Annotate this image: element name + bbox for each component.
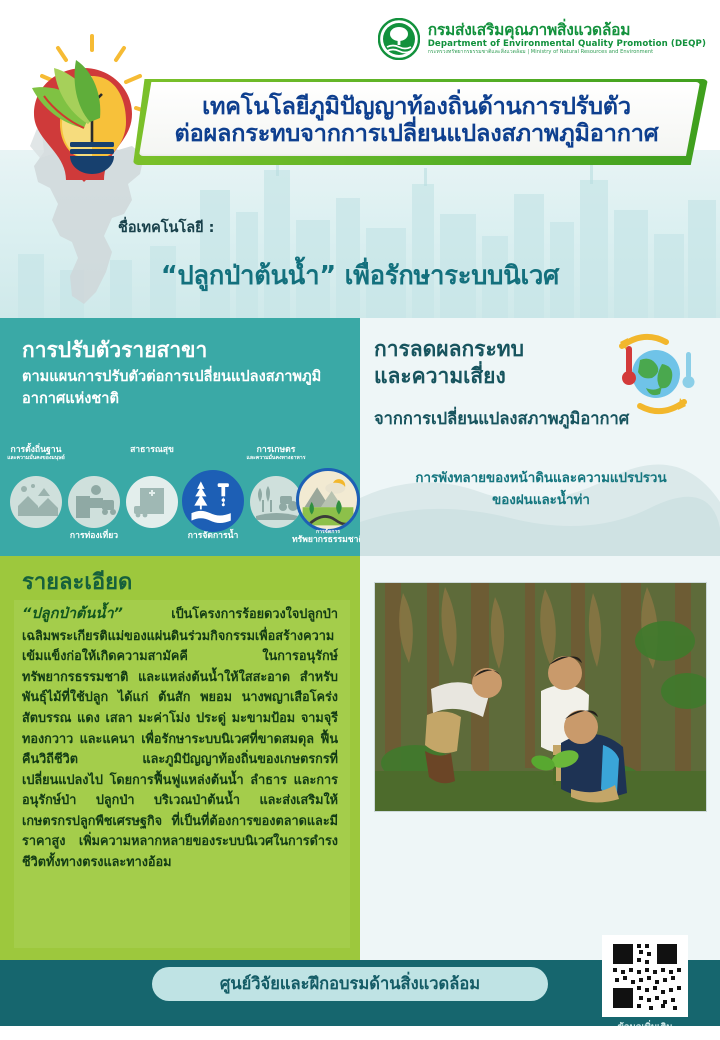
sector-icon-row: การตั้งถิ่นฐาน และความมั่นคงของมนุษย์ (4, 446, 356, 552)
adaptation-panel: การปรับตัวรายสาขา ตามแผนการปรับตัวต่อการ… (0, 318, 360, 556)
natural-resources-landscape-icon (296, 468, 360, 532)
mitigation-body-line1: การพังทลายของหน้าดินและความแปรปรวน (376, 468, 706, 490)
sector-item-tourism[interactable]: การท่องเที่ยว (68, 476, 120, 528)
mitigation-heading-line2: และความเสี่ยง (374, 363, 624, 390)
mid-band: การปรับตัวรายสาขา ตามแผนการปรับตัวต่อการ… (0, 318, 720, 556)
details-body-text: เป็นโครงการร้อยดวงใจปลูกป่าเฉลิมพระเกียร… (22, 606, 338, 869)
details-panel: รายละเอียด “ปลูกป่าต้นน้ำ” เป็นโครงการร้… (0, 556, 360, 960)
logo-title-th: กรมส่งเสริมคุณภาพสิ่งแวดล้อม (428, 22, 706, 38)
sector-label-agriculture: การเกษตร และความมั่นคงทางอาหาร (216, 446, 336, 462)
mitigation-body: การพังทลายของหน้าดินและความแปรปรวน ของฝน… (376, 468, 706, 512)
adaptation-heading: การปรับตัวรายสาขา (22, 334, 207, 367)
logo-title-en: Department of Environmental Quality Prom… (428, 40, 706, 49)
logo-ministry-line: กระทรวงทรัพยากรธรรมชาติและสิ่งแวดล้อม | … (428, 50, 706, 55)
sector-item-health[interactable]: สาธารณสุข (126, 476, 178, 528)
poster-title-line1: เทคโนโลยีภูมิปัญญาท้องถิ่นด้านการปรับตัว (202, 93, 631, 120)
sector-label-water: การจัดการน้ำ (153, 532, 273, 542)
poster-root: กรมส่งเสริมคุณภาพสิ่งแวดล้อม Department … (0, 0, 720, 1040)
qr-code-icon[interactable] (602, 935, 688, 1017)
mitigation-body-line2: ของฝนและน้ำท่า (376, 490, 706, 512)
details-body: “ปลูกป่าต้นน้ำ” เป็นโครงการร้อยดวงใจปลูก… (22, 602, 338, 873)
sector-label-tourism: การท่องเที่ยว (34, 532, 154, 542)
sector-item-settlement[interactable]: การตั้งถิ่นฐาน และความมั่นคงของมนุษย์ (10, 476, 62, 528)
adaptation-subheading: ตามแผนการปรับตัวต่อการเปลี่ยนแปลงสภาพภูม… (22, 366, 352, 410)
deqp-tree-seal-icon (378, 18, 420, 60)
details-lead: “ปลูกป่าต้นน้ำ” (22, 605, 123, 622)
organization-pill[interactable]: ศูนย์วิจัยและฝึกอบรมด้านสิ่งแวดล้อม (152, 967, 548, 1001)
sector-item-natural-resources[interactable]: การจัดการ ทรัพยากรธรรมชาติ (296, 468, 360, 532)
mitigation-heading-line1: การลดผลกระทบ (374, 336, 624, 363)
photo-panel: สถานที่ : ป่าต้นน้ำแม่นาไทร ตำบลบ้านปง อ… (360, 556, 720, 960)
lower-section: รายละเอียด “ปลูกป่าต้นน้ำ” เป็นโครงการร้… (0, 556, 720, 960)
sector-label-health: สาธารณสุข (92, 446, 212, 456)
details-heading: รายละเอียด (22, 564, 132, 599)
organization-label: ศูนย์วิจัยและฝึกอบรมด้านสิ่งแวดล้อม (220, 971, 480, 997)
sector-item-water[interactable]: การจัดการน้ำ (182, 470, 244, 532)
deqp-logo: กรมส่งเสริมคุณภาพสิ่งแวดล้อม Department … (378, 18, 706, 60)
mitigation-panel: การลดผลกระทบ และความเสี่ยง จากการเปลี่ยน… (360, 318, 720, 556)
poster-title-ribbon: เทคโนโลยีภูมิปัญญาท้องถิ่นด้านการปรับตัว… (133, 79, 708, 165)
water-management-tap-river-icon (182, 470, 244, 532)
public-health-hospital-icon (126, 476, 178, 528)
poster-title-line2: ต่อผลกระทบจากการเปลี่ยนแปลงสภาพภูมิอากาศ (175, 120, 659, 147)
sector-item-agriculture[interactable]: การเกษตร และความมั่นคงทางอาหาร (250, 476, 302, 528)
tourism-city-bus-icon (68, 476, 120, 528)
mitigation-heading: การลดผลกระทบ และความเสี่ยง (374, 336, 624, 390)
sector-label-settlement: การตั้งถิ่นฐาน และความมั่นคงของมนุษย์ (0, 446, 96, 462)
children-planting-trees-photo (374, 582, 707, 812)
bottom-white-strip (0, 1026, 720, 1040)
agriculture-tractor-wheat-icon (250, 476, 302, 528)
settlement-village-icon (10, 476, 62, 528)
technology-label: ชื่อเทคโนโลยี : (118, 216, 214, 239)
technology-name: “ปลูกป่าต้นน้ำ” เพื่อรักษาระบบนิเวศ (0, 256, 720, 296)
thermometer-cold (683, 352, 695, 388)
globe-thermometer-climate-icon (606, 330, 702, 422)
hero-section: กรมส่งเสริมคุณภาพสิ่งแวดล้อม Department … (0, 0, 720, 318)
